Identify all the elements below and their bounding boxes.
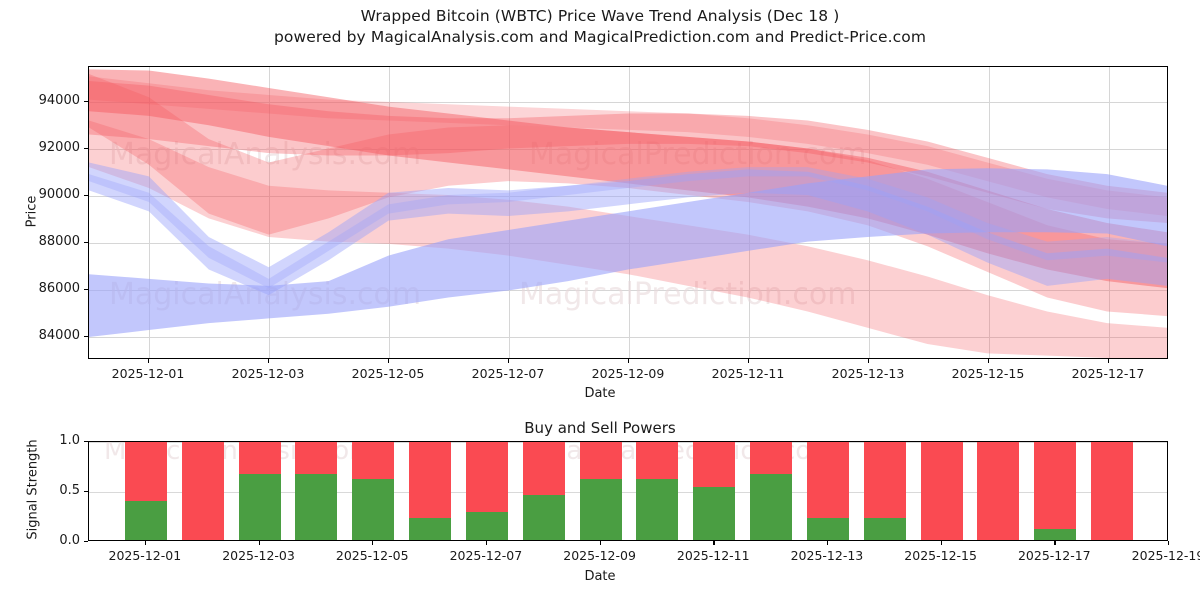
x-tick-mark <box>1168 541 1169 545</box>
x-tick-mark <box>268 359 269 363</box>
buy-power-segment <box>295 474 337 540</box>
price-chart-plot-area: MagicalAnalysis.comMagicalPrediction.com… <box>88 66 1168 359</box>
x-tick-label: 2025-12-11 <box>663 548 763 563</box>
signal-bar <box>1034 441 1076 540</box>
sell-power-segment <box>921 441 963 540</box>
y-tick-label: 88000 <box>10 234 80 249</box>
x-tick-label: 2025-12-11 <box>698 366 798 381</box>
buy-power-segment <box>466 512 508 540</box>
x-tick-mark <box>748 359 749 363</box>
sell-power-segment <box>807 441 849 518</box>
y-tick-label: 84000 <box>10 328 80 343</box>
signal-bar <box>295 441 337 540</box>
buy-power-segment <box>580 479 622 540</box>
signal-bar <box>864 441 906 540</box>
buy-power-segment <box>693 487 735 540</box>
x-tick-label: 2025-12-07 <box>436 548 536 563</box>
sell-power-segment <box>636 441 678 479</box>
x-tick-label: 2025-12-01 <box>95 548 195 563</box>
sell-power-segment <box>693 441 735 487</box>
x-tick-label: 2025-12-05 <box>322 548 422 563</box>
x-tick-mark <box>1108 359 1109 363</box>
x-tick-mark <box>148 359 149 363</box>
signal-bar <box>239 441 281 540</box>
x-tick-label: 2025-12-17 <box>1058 366 1158 381</box>
sell-power-segment <box>409 441 451 518</box>
sell-power-segment <box>1091 441 1133 540</box>
buy-power-segment <box>352 479 394 540</box>
x-tick-label: 2025-12-19 <box>1118 548 1200 563</box>
sell-power-segment <box>580 441 622 479</box>
buy-power-segment <box>636 479 678 540</box>
x-tick-label: 2025-12-15 <box>891 548 991 563</box>
sell-power-segment <box>1034 441 1076 529</box>
x-tick-mark <box>988 359 989 363</box>
y-tick-label: 94000 <box>10 93 80 108</box>
signal-chart-plot-area: MagicalAnalysis.comMagicalPrediction.com <box>88 441 1168 541</box>
sell-power-segment <box>523 441 565 495</box>
buy-power-segment <box>239 474 281 540</box>
x-tick-label: 2025-12-17 <box>1004 548 1104 563</box>
y-tick-mark <box>84 541 88 542</box>
signal-chart-title: Buy and Sell Powers <box>0 419 1200 437</box>
signal-bar <box>636 441 678 540</box>
signal-x-axis-label: Date <box>0 569 1200 584</box>
chart-title-block: Wrapped Bitcoin (WBTC) Price Wave Trend … <box>0 6 1200 48</box>
page-subtitle: powered by MagicalAnalysis.com and Magic… <box>0 27 1200 48</box>
x-tick-mark <box>600 541 601 545</box>
price-x-axis-label: Date <box>0 386 1200 401</box>
x-tick-mark <box>827 541 828 545</box>
x-tick-label: 2025-12-05 <box>338 366 438 381</box>
signal-bar <box>977 441 1019 540</box>
sell-power-segment <box>295 441 337 474</box>
x-tick-mark <box>145 541 146 545</box>
sell-power-segment <box>125 441 167 501</box>
x-tick-label: 2025-12-13 <box>777 548 877 563</box>
sell-power-segment <box>182 441 224 540</box>
y-tick-label: 86000 <box>10 281 80 296</box>
x-tick-label: 2025-12-01 <box>98 366 198 381</box>
x-tick-label: 2025-12-03 <box>218 366 318 381</box>
x-tick-mark <box>713 541 714 545</box>
x-tick-label: 2025-12-07 <box>458 366 558 381</box>
sell-power-segment <box>352 441 394 479</box>
x-tick-mark <box>486 541 487 545</box>
x-tick-mark <box>1054 541 1055 545</box>
x-tick-mark <box>868 359 869 363</box>
x-tick-label: 2025-12-15 <box>938 366 1038 381</box>
x-tick-mark <box>508 359 509 363</box>
buy-power-segment <box>864 518 906 540</box>
y-tick-label: 92000 <box>10 140 80 155</box>
buy-power-segment <box>523 495 565 540</box>
x-tick-label: 2025-12-09 <box>550 548 650 563</box>
sell-power-segment <box>750 441 792 474</box>
signal-bar <box>523 441 565 540</box>
signal-bar <box>807 441 849 540</box>
signal-bar <box>921 441 963 540</box>
x-tick-label: 2025-12-09 <box>578 366 678 381</box>
x-tick-mark <box>259 541 260 545</box>
sell-power-segment <box>239 441 281 474</box>
y-tick-label: 0.5 <box>10 483 80 498</box>
buy-power-segment <box>750 474 792 540</box>
price-wave-bands <box>89 67 1167 358</box>
buy-power-segment <box>125 501 167 540</box>
y-tick-label: 1.0 <box>10 433 80 448</box>
x-tick-mark <box>388 359 389 363</box>
signal-bar <box>125 441 167 540</box>
x-tick-mark <box>941 541 942 545</box>
x-tick-label: 2025-12-03 <box>209 548 309 563</box>
x-tick-mark <box>628 359 629 363</box>
buy-power-segment <box>807 518 849 540</box>
y-tick-label: 0.0 <box>10 533 80 548</box>
x-tick-label: 2025-12-13 <box>818 366 918 381</box>
signal-bar-group <box>89 442 1167 540</box>
sell-power-segment <box>466 441 508 512</box>
sell-power-segment <box>864 441 906 518</box>
signal-bar <box>1091 441 1133 540</box>
buy-power-segment <box>409 518 451 540</box>
signal-bar <box>182 441 224 540</box>
sell-power-segment <box>977 441 1019 540</box>
signal-bar <box>466 441 508 540</box>
signal-bar <box>409 441 451 540</box>
y-tick-label: 90000 <box>10 187 80 202</box>
page-title: Wrapped Bitcoin (WBTC) Price Wave Trend … <box>0 6 1200 27</box>
signal-bar <box>580 441 622 540</box>
buy-power-segment <box>1034 529 1076 540</box>
signal-bar <box>750 441 792 540</box>
signal-bar <box>693 441 735 540</box>
x-tick-mark <box>372 541 373 545</box>
signal-bar <box>352 441 394 540</box>
